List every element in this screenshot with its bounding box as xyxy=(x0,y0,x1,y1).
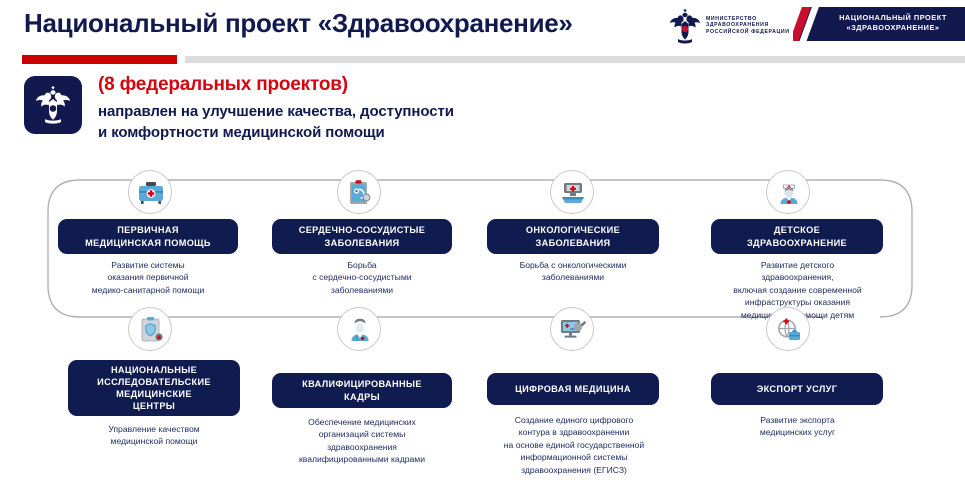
project-title-digital-medicine: ЦИФРОВАЯ МЕДИЦИНА xyxy=(487,373,659,405)
desc-line: Борьба xyxy=(262,259,462,271)
title-line: КВАЛИФИЦИРОВАННЫЕ xyxy=(302,379,422,389)
slide-header: Национальный проект «Здравоохранение» xyxy=(0,0,965,52)
desc-line: медицинской помощи xyxy=(58,435,250,447)
title-line: КАДРЫ xyxy=(344,392,380,402)
project-description-digital-medicine: Создание единого цифрового контура в здр… xyxy=(463,414,685,476)
russian-coat-of-arms-icon xyxy=(668,9,702,45)
project-title-oncology: ОНКОЛОГИЧЕСКИЕ ЗАБОЛЕВАНИЯ xyxy=(487,219,659,254)
project-title-cardiovascular: СЕРДЕЧНО-СОСУДИСТЫЕ ЗАБОЛЕВАНИЯ xyxy=(272,219,452,254)
title-line: ЗАБОЛЕВАНИЯ xyxy=(535,238,610,248)
title-line: ЦИФРОВАЯ МЕДИЦИНА xyxy=(515,383,631,395)
title-line: НАЦИОНАЛЬНЫЕ xyxy=(111,365,197,375)
desc-line: Борьба с онкологическими xyxy=(473,259,673,271)
title-line: ДЕТСКОЕ xyxy=(774,225,820,235)
title-line: ЗАБОЛЕВАНИЯ xyxy=(324,238,399,248)
title-line: ЗДРАВООХРАНЕНИЕ xyxy=(747,238,847,248)
desc-line: организаций системы xyxy=(262,428,462,440)
desc-line: оказания первичной xyxy=(48,271,248,283)
desc-line: контура в здравоохранении xyxy=(463,426,685,438)
project-title-service-export: ЭКСПОРТ УСЛУГ xyxy=(711,373,883,405)
subtitle-highlight: (8 федеральных проектов) xyxy=(98,74,718,96)
doctor-icon xyxy=(337,307,381,351)
desc-line: здравоохранения (ЕГИСЗ) xyxy=(463,464,685,476)
globe-briefcase-icon xyxy=(766,307,810,351)
title-line: ИССЛЕДОВАТЕЛЬСКИЕ xyxy=(97,377,211,387)
project-description-primary-care: Развитие системы оказания первичной меди… xyxy=(48,259,248,296)
project-description-oncology: Борьба с онкологическими заболеваниями xyxy=(473,259,673,284)
desc-line: заболеваниями xyxy=(262,284,462,296)
desc-line: квалифицированными кадрами xyxy=(262,453,462,465)
medical-kit-icon xyxy=(128,170,172,214)
desc-line: здравоохранения, xyxy=(690,271,905,283)
project-description-service-export: Развитие экспорта медицинских услуг xyxy=(700,414,895,439)
title-line: ПЕРВИЧНАЯ xyxy=(117,225,179,235)
desc-line: здравоохранения xyxy=(262,441,462,453)
desc-line: медицинских услуг xyxy=(700,426,895,438)
desc-line: Обеспечение медицинских xyxy=(262,416,462,428)
ministry-logo-text: МИНИСТЕРСТВО ЗДРАВООХРАНЕНИЯ РОССИЙСКОЙ … xyxy=(706,16,790,35)
national-project-badge-text: НАЦИОНАЛЬНЫЙ ПРОЕКТ «ЗДРАВООХРАНЕНИЕ» xyxy=(823,13,963,33)
ministry-line-3: РОССИЙСКОЙ ФЕДЕРАЦИИ xyxy=(706,29,790,35)
badge-line-1: НАЦИОНАЛЬНЫЙ ПРОЕКТ xyxy=(823,13,963,23)
double-headed-eagle-icon xyxy=(24,76,82,134)
desc-line: медико-санитарной помощи xyxy=(48,284,248,296)
title-line: ЭКСПОРТ УСЛУГ xyxy=(757,383,838,395)
desc-line: Развитие экспорта xyxy=(700,414,895,426)
project-description-qualified-staff: Обеспечение медицинских организаций сист… xyxy=(262,416,462,466)
project-description-cardiovascular: Борьба с сердечно-сосудистыми заболевани… xyxy=(262,259,462,296)
computer-medical-icon xyxy=(550,307,594,351)
project-title-qualified-staff: КВАЛИФИЦИРОВАННЫЕ КАДРЫ xyxy=(272,373,452,408)
header-divider xyxy=(22,55,965,64)
desc-line: Управление качеством xyxy=(58,423,250,435)
project-title-research-centers: НАЦИОНАЛЬНЫЕ ИССЛЕДОВАТЕЛЬСКИЕ МЕДИЦИНСК… xyxy=(68,360,240,416)
slide-root: Национальный проект «Здравоохранение» xyxy=(0,0,965,500)
subtitle-line-1: направлен на улучшение качества, доступн… xyxy=(98,101,718,122)
subtitle-line-2: и комфортности медицинской помощи xyxy=(98,122,718,143)
desc-line: с сердечно-сосудистыми xyxy=(262,271,462,283)
desc-line: инфраструктуры оказания xyxy=(690,296,905,308)
desc-line: информационной системы xyxy=(463,451,685,463)
page-title: Национальный проект «Здравоохранение» xyxy=(24,8,573,39)
badge-line-2: «ЗДРАВООХРАНЕНИЕ» xyxy=(823,23,963,33)
shield-clipboard-icon xyxy=(128,307,172,351)
title-line: СЕРДЕЧНО-СОСУДИСТЫЕ xyxy=(299,225,426,235)
project-title-child-health: ДЕТСКОЕ ЗДРАВООХРАНЕНИЕ xyxy=(711,219,883,254)
desc-line: на основе единой государственной xyxy=(463,439,685,451)
desc-line: Создание единого цифрового xyxy=(463,414,685,426)
divider-gray-segment xyxy=(185,56,965,63)
clipboard-stethoscope-icon xyxy=(337,170,381,214)
nurse-icon xyxy=(766,170,810,214)
title-line: ОНКОЛОГИЧЕСКИЕ xyxy=(526,225,620,235)
desc-line: включая создание современной xyxy=(690,284,905,296)
project-description-research-centers: Управление качеством медицинской помощи xyxy=(58,423,250,448)
desc-line: Развитие детского xyxy=(690,259,905,271)
title-line: ЦЕНТРЫ xyxy=(133,401,175,411)
project-title-primary-care: ПЕРВИЧНАЯ МЕДИЦИНСКАЯ ПОМОЩЬ xyxy=(58,219,238,254)
desc-line: Развитие системы xyxy=(48,259,248,271)
national-project-badge: НАЦИОНАЛЬНЫЙ ПРОЕКТ «ЗДРАВООХРАНЕНИЕ» xyxy=(793,7,965,41)
medical-scanner-icon xyxy=(550,170,594,214)
title-line: МЕДИЦИНСКАЯ ПОМОЩЬ xyxy=(85,238,211,248)
subtitle-block: (8 федеральных проектов) направлен на ул… xyxy=(98,74,718,143)
title-line: МЕДИЦИНСКИЕ xyxy=(116,389,192,399)
divider-red-segment xyxy=(22,55,177,64)
desc-line: заболеваниями xyxy=(473,271,673,283)
